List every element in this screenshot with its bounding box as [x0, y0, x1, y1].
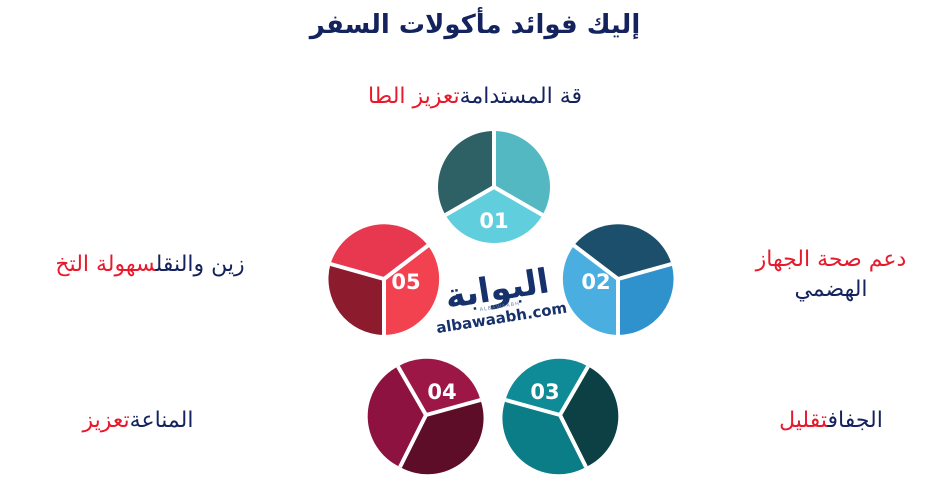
pie-chart-02[interactable]: 02 [558, 219, 678, 339]
benefit-label-02: دعم صحة الجهاز الهضمي [720, 245, 942, 304]
pie-04-number: 04 [427, 380, 456, 404]
pie-05-svg: 05 [324, 219, 444, 339]
benefit-label-05: زين والنقلسهولة التخ [2, 250, 298, 280]
benefit-label-01-rest: قة المستدامة [460, 84, 582, 109]
pie-chart-03[interactable]: 03 [500, 355, 620, 475]
pie-02-svg: 02 [558, 219, 678, 339]
benefit-label-04-highlight: تعزيز [83, 408, 130, 433]
pie-02-number: 02 [581, 270, 610, 294]
benefit-label-04: المناعةتعزيز [8, 406, 268, 436]
pie-04-svg: 04 [366, 355, 486, 475]
benefit-label-02-highlight: دعم صحة الجهاز [756, 247, 907, 272]
watermark-arabic: البوابة [427, 262, 567, 317]
watermark-domain: albawaabh.com [433, 300, 570, 336]
benefit-label-01-highlight: تعزيز الطا [368, 84, 460, 109]
benefit-label-03-highlight: تقليل [779, 408, 827, 433]
benefit-label-01: قة المستدامةتعزيز الطا [0, 82, 950, 112]
pie-05-number: 05 [391, 270, 420, 294]
pie-01-number: 01 [479, 209, 508, 233]
watermark-micro-text: ALBAWAABH [432, 293, 567, 320]
benefit-label-03-rest: الجفاف [827, 408, 882, 433]
benefit-label-05-rest: زين والنقل [156, 252, 245, 277]
benefit-label-04-rest: المناعة [130, 408, 194, 433]
benefit-label-05-highlight: سهولة التخ [55, 252, 155, 277]
infographic-canvas: إليك فوائد مأكولات السفر 01 02 [0, 0, 950, 487]
pie-03-svg: 03 [500, 355, 620, 475]
pie-03-number: 03 [530, 380, 559, 404]
pie-01-svg: 01 [434, 127, 554, 247]
pie-chart-05[interactable]: 05 [324, 219, 444, 339]
watermark-logo: البوابة ALBAWAABH albawaabh.com [427, 262, 573, 354]
pie-chart-04[interactable]: 04 [366, 355, 486, 475]
benefit-label-03: الجفافتقليل [720, 406, 942, 436]
page-title: إليك فوائد مأكولات السفر [0, 10, 950, 40]
pie-chart-01[interactable]: 01 [434, 127, 554, 247]
benefit-label-02-rest: الهضمي [794, 277, 867, 302]
